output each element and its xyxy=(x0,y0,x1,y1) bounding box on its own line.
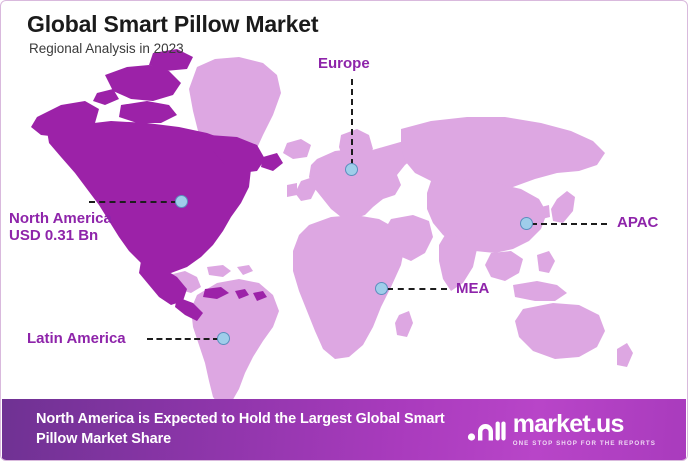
map-region-other xyxy=(167,57,633,407)
leader-mea xyxy=(387,288,447,290)
brand-name: market.us xyxy=(513,412,656,437)
marker-north-america[interactable] xyxy=(175,195,188,208)
page-title: Global Smart Pillow Market xyxy=(27,11,318,37)
brand-logo[interactable]: market.us ONE STOP SHOP FOR THE REPORTS xyxy=(466,412,656,447)
brand-text: market.us ONE STOP SHOP FOR THE REPORTS xyxy=(513,412,656,447)
footer-headline: North America is Expected to Hold the La… xyxy=(36,410,466,449)
infographic-card: Global Smart Pillow Market Regional Anal… xyxy=(0,0,688,461)
label-mea: MEA xyxy=(456,280,489,297)
marker-europe[interactable] xyxy=(345,163,358,176)
label-north-america-name: North America xyxy=(9,210,112,227)
leader-north-america xyxy=(89,201,177,203)
marker-latin-america[interactable] xyxy=(217,332,230,345)
label-north-america-value: USD 0.31 Bn xyxy=(9,227,112,244)
leader-apac xyxy=(531,223,607,225)
marker-mea[interactable] xyxy=(375,282,388,295)
leader-europe xyxy=(351,79,353,165)
page-subtitle: Regional Analysis in 2023 xyxy=(29,42,318,57)
header: Global Smart Pillow Market Regional Anal… xyxy=(27,11,318,57)
brand-tagline: ONE STOP SHOP FOR THE REPORTS xyxy=(513,440,656,447)
market-us-logo-icon xyxy=(466,415,506,445)
label-europe: Europe xyxy=(318,55,370,72)
label-north-america: North America USD 0.31 Bn xyxy=(9,210,112,245)
footer-banner: North America is Expected to Hold the La… xyxy=(2,399,686,460)
leader-latin-america xyxy=(147,338,219,340)
label-apac: APAC xyxy=(617,214,658,231)
marker-apac[interactable] xyxy=(520,217,533,230)
label-latin-america: Latin America xyxy=(27,330,126,347)
